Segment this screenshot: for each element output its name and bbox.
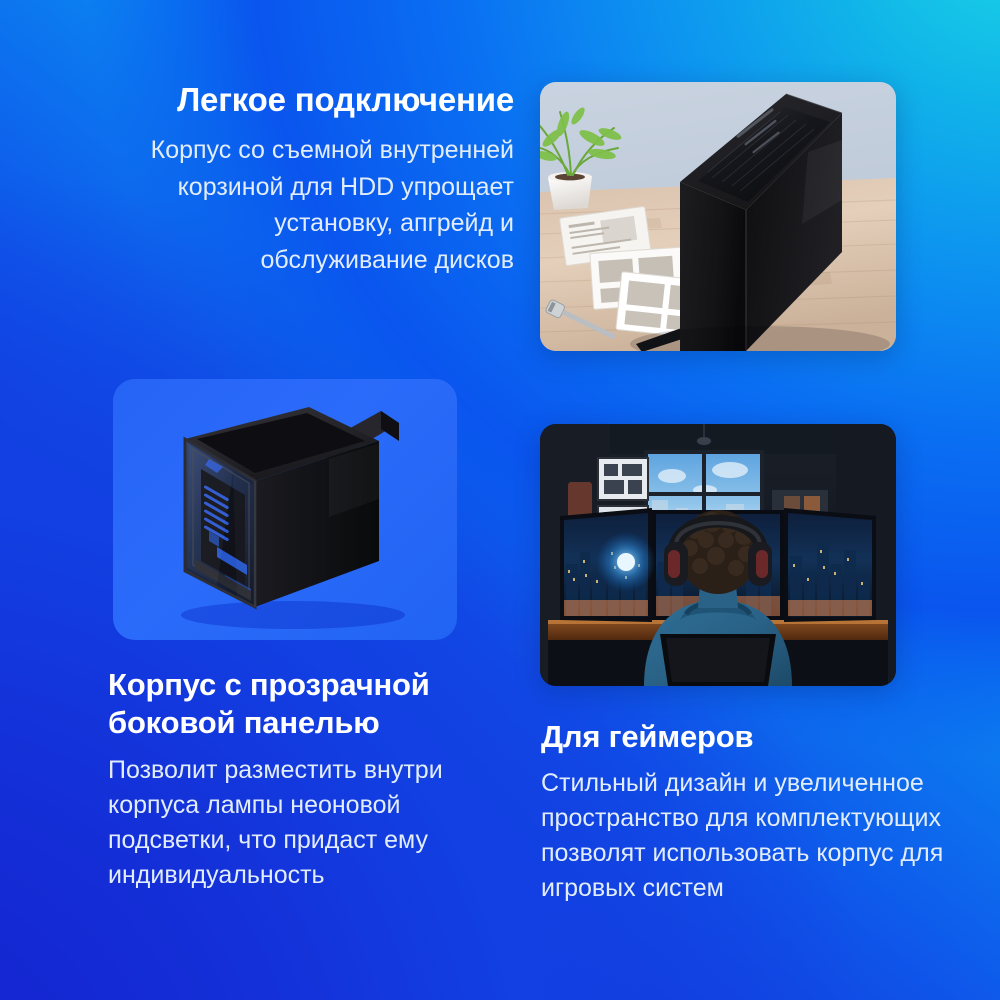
promo-banner: Легкое подключение Корпус со съемной вну… [0, 0, 1000, 1000]
feature-heading-gamers: Для геймеров [541, 718, 951, 756]
feature-block-transparent-panel: Корпус с прозрачной боковой панелью Позв… [108, 666, 508, 893]
feature-body-transparent-panel: Позволит разместить внутри корпуса лампы… [108, 753, 508, 893]
photo-case-render [113, 379, 457, 640]
photo-gaming-setup [540, 424, 896, 686]
feature-block-easy-connect: Легкое подключение Корпус со съемной вну… [150, 80, 514, 278]
feature-body-gamers: Стильный дизайн и увеличенное пространст… [541, 766, 951, 906]
feature-heading-transparent-panel: Корпус с прозрачной боковой панелью [108, 666, 508, 742]
feature-heading-easy-connect: Легкое подключение [150, 80, 514, 120]
feature-body-easy-connect: Корпус со съемной внутренней корзиной дл… [150, 132, 514, 278]
feature-block-gamers: Для геймеров Стильный дизайн и увеличенн… [541, 718, 951, 906]
photo-case-on-desk [540, 82, 896, 351]
